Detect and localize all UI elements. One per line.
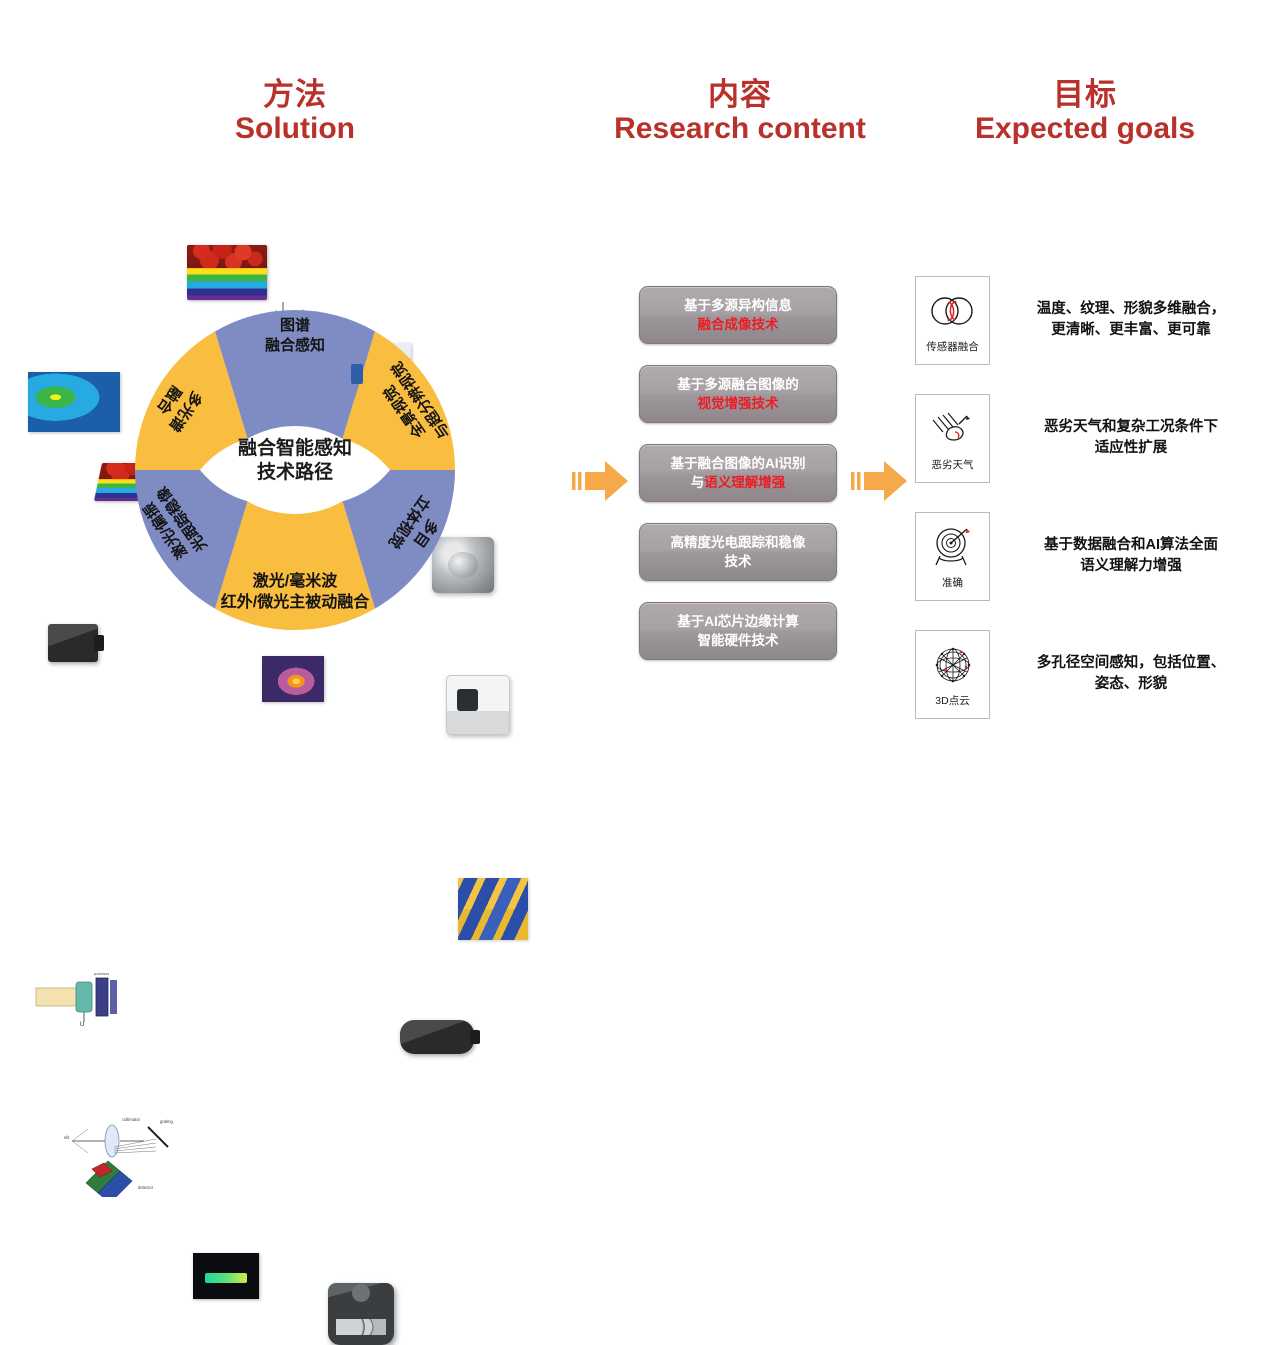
- column-header-content: 内容 Research content: [600, 78, 880, 146]
- blue-chip-array: [458, 878, 528, 940]
- content-box-3-highlight: 语义理解增强: [704, 475, 785, 490]
- goal-row-2: 恶劣天气 恶劣天气和复杂工况条件下 适应性扩展: [915, 390, 1245, 486]
- donut-center-line2: 技术路径: [197, 461, 393, 485]
- donut-label-top-line1: 图谱: [225, 316, 365, 336]
- stereo-camera-bar: [400, 1020, 474, 1054]
- content-box-4-line1: 高精度光电跟踪和稳像: [671, 533, 806, 552]
- target-accuracy-icon-svg: [930, 525, 976, 569]
- gimbal-eo-pod: [328, 1283, 394, 1345]
- goal-text-1-line2: 更清晰、更丰富、更可靠: [1017, 320, 1245, 341]
- point-cloud-icon: [931, 640, 975, 690]
- arrow-right-icon-2: [851, 455, 911, 507]
- column-header-goals-en: Expected goals: [955, 113, 1215, 145]
- goal-text-4: 多孔径空间感知，包括位置、 姿态、形貌: [990, 653, 1245, 695]
- content-box-2-line1: 基于多源融合图像的: [677, 375, 799, 394]
- content-box-2-highlight: 视觉增强技术: [698, 396, 779, 411]
- goal-text-2: 恶劣天气和复杂工况条件下 适应性扩展: [990, 417, 1245, 459]
- hyperspectral-cube-surface: [187, 245, 267, 268]
- content-box-5-line2: 智能硬件技术: [698, 631, 779, 650]
- column-header-solution: 方法 Solution: [180, 78, 410, 146]
- content-box-1-line1: 基于多源异构信息: [684, 296, 792, 315]
- goal-text-2-line2: 适应性扩展: [1017, 438, 1245, 459]
- goal-icon-caption-4: 3D点云: [935, 693, 969, 708]
- donut-label-bottom-line2: 红外/微光主被动融合: [160, 593, 430, 614]
- goal-row-1: 传感器融合 温度、纹理、形貌多维融合， 更清晰、更丰富、更可靠: [915, 272, 1245, 368]
- content-box-1-highlight: 融合成像技术: [698, 317, 779, 332]
- goal-text-3-line2: 语义理解力增强: [1017, 556, 1245, 577]
- goal-text-3: 基于数据融合和AI算法全面 语义理解力增强: [990, 535, 1245, 577]
- content-box-2[interactable]: 基于多源融合图像的 视觉增强技术: [639, 365, 837, 423]
- goal-row-3: 准确 基于数据融合和AI算法全面 语义理解力增强: [915, 508, 1245, 604]
- donut-center-label: 融合智能感知 技术路径: [197, 437, 393, 486]
- content-box-3-line1: 基于融合图像的AI识别: [671, 454, 806, 473]
- content-box-1-line2: 融合成像技术: [698, 315, 779, 334]
- goal-text-2-line1: 恶劣天气和复杂工况条件下: [1017, 417, 1245, 438]
- content-box-3-plain: 与: [691, 475, 705, 490]
- svg-text:polarizer: polarizer: [94, 971, 110, 976]
- thermal-image-machinery: [28, 372, 120, 432]
- ir-scene-image: [262, 656, 324, 702]
- goal-icon-box-1[interactable]: 传感器融合: [915, 276, 990, 365]
- sensor-fusion-icon-svg: [926, 294, 980, 328]
- column-header-content-en: Research content: [600, 113, 880, 145]
- bad-weather-icon: [929, 404, 977, 454]
- column-header-goals: 目标 Expected goals: [955, 78, 1215, 146]
- research-content-column: 基于多源异构信息 融合成像技术 基于多源融合图像的 视觉增强技术 基于融合图像的…: [639, 286, 835, 681]
- goal-text-4-line2: 姿态、形貌: [1017, 674, 1245, 695]
- content-box-4-line2: 技术: [725, 552, 752, 571]
- content-box-3-line2: 与语义理解增强: [691, 473, 786, 492]
- content-box-1[interactable]: 基于多源异构信息 融合成像技术: [639, 286, 837, 344]
- point-cloud-icon-svg: [931, 643, 975, 687]
- arrow-content-to-goals: [851, 455, 911, 512]
- hyperspectral-cube-top: [187, 245, 267, 300]
- spectrometer-light-path-diagram: collimator grating slit detector: [64, 1113, 192, 1197]
- goal-text-1-line1: 温度、纹理、形貌多维融合，: [1017, 299, 1245, 320]
- target-accuracy-icon: [930, 522, 976, 572]
- content-box-4-plain: 技术: [725, 554, 752, 569]
- svg-text:grating: grating: [160, 1119, 173, 1124]
- goal-text-3-line1: 基于数据融合和AI算法全面: [1017, 535, 1245, 556]
- polarization-optics-svg: U polarizer: [34, 964, 146, 1028]
- content-box-2-line2: 视觉增强技术: [698, 394, 779, 413]
- content-box-5-line1: 基于AI芯片边缘计算: [677, 612, 799, 631]
- diagram-canvas: 方法 Solution 内容 Research content 目标 Expec…: [0, 0, 1268, 866]
- goal-row-4: 3D点云 多孔径空间感知，包括位置、 姿态、形貌: [915, 626, 1245, 722]
- goal-icon-box-3[interactable]: 准确: [915, 512, 990, 601]
- ir-ship-image: [193, 1253, 259, 1299]
- donut-label-top-line2: 融合感知: [225, 336, 365, 356]
- spectrometer-light-path-svg: collimator grating slit detector: [64, 1113, 192, 1197]
- polarization-optics-diagram: U polarizer: [34, 964, 146, 1028]
- goal-icon-caption-3: 准确: [942, 575, 963, 590]
- content-box-5-plain: 智能硬件技术: [698, 633, 779, 648]
- bad-weather-icon-svg: [929, 410, 977, 448]
- content-box-4[interactable]: 高精度光电跟踪和稳像 技术: [639, 523, 837, 581]
- column-header-solution-cn: 方法: [180, 78, 410, 111]
- goal-icon-box-2[interactable]: 恶劣天气: [915, 394, 990, 483]
- technology-roadmap-donut: 融合智能感知 技术路径 图谱 融合感知 全景视觉 与超分辨视觉 多目 立体视觉 …: [125, 300, 465, 640]
- optical-instrument: [446, 675, 510, 735]
- donut-center-line1: 融合智能感知: [197, 437, 393, 461]
- content-box-3[interactable]: 基于融合图像的AI识别 与语义理解增强: [639, 444, 837, 502]
- svg-text:collimator: collimator: [122, 1117, 141, 1122]
- goal-text-1: 温度、纹理、形貌多维融合， 更清晰、更丰富、更可靠: [990, 299, 1245, 341]
- goal-icon-box-4[interactable]: 3D点云: [915, 630, 990, 719]
- svg-text:detector: detector: [138, 1185, 154, 1190]
- goal-icon-caption-2: 恶劣天气: [932, 457, 974, 472]
- column-header-content-cn: 内容: [600, 78, 880, 111]
- column-header-goals-cn: 目标: [955, 78, 1215, 111]
- goal-icon-caption-1: 传感器融合: [926, 339, 979, 354]
- sensor-fusion-icon: [926, 286, 980, 336]
- arrow-right-icon-1: [572, 455, 632, 507]
- column-header-solution-en: Solution: [180, 113, 410, 145]
- donut-label-top: 图谱 融合感知: [225, 316, 365, 355]
- goal-text-4-line1: 多孔径空间感知，包括位置、: [1017, 653, 1245, 674]
- svg-text:slit: slit: [64, 1135, 70, 1140]
- content-box-5[interactable]: 基于AI芯片边缘计算 智能硬件技术: [639, 602, 837, 660]
- arrow-solution-to-content: [572, 455, 632, 512]
- svg-text:U: U: [80, 1022, 84, 1028]
- industrial-camera: [48, 624, 98, 662]
- expected-goals-column: 传感器融合 温度、纹理、形貌多维融合， 更清晰、更丰富、更可靠: [915, 272, 1245, 744]
